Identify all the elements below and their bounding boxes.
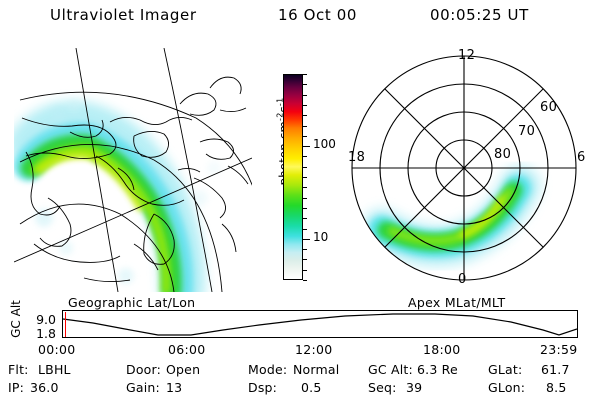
- orbit-trace-line: [63, 314, 577, 335]
- uvi-viewer-window: Ultraviolet Imager 16 Oct 00 00:05:25 UT: [0, 0, 600, 400]
- geographic-strip-title: Geographic Lat/Lon: [68, 295, 195, 310]
- mlt-label-18: 18: [348, 150, 365, 165]
- mlat-label-70: 70: [518, 124, 535, 139]
- colorbar-ticks: [303, 74, 311, 280]
- status-label-door: Door:: [126, 362, 161, 377]
- status-label-gain: Gain:: [126, 380, 160, 395]
- status-label-gc-alt: GC Alt:: [368, 362, 413, 377]
- status-value-door: Open: [166, 362, 200, 377]
- status-row-1: Flt: LBHL Door: Open Mode: Normal GC Alt…: [8, 362, 596, 380]
- mlt-label-0: 0: [458, 272, 467, 287]
- colorbar-gradient: [283, 74, 303, 280]
- aurora-oval-polar: [382, 186, 520, 246]
- gc-alt-min-value: 1.8: [26, 326, 56, 341]
- instrument-title: Ultraviolet Imager: [50, 6, 197, 24]
- status-value-glon: 8.5: [546, 380, 566, 395]
- mlt-label-6: 6: [577, 150, 586, 165]
- time-tick-1200: 12:00: [295, 342, 333, 357]
- observation-time: 00:05:25 UT: [430, 6, 529, 24]
- mlt-label-12: 12: [458, 48, 475, 63]
- polar-grid: [352, 56, 576, 280]
- gc-alt-axis-label: GC Alt: [9, 289, 23, 349]
- observation-date: 16 Oct 00: [278, 6, 357, 24]
- current-time-marker: [65, 312, 66, 338]
- status-value-gc-alt: 6.3 Re: [417, 362, 458, 377]
- status-label-seq: Seq:: [368, 380, 397, 395]
- time-tick-2359: 23:59: [540, 342, 578, 357]
- apex-strip-title: Apex MLat/MLT: [408, 295, 505, 310]
- mlat-label-60: 60: [540, 100, 557, 115]
- apex-polar-svg: [334, 46, 594, 294]
- status-value-gain: 13: [166, 380, 182, 395]
- status-label-glat: GLat:: [488, 362, 522, 377]
- time-tick-1800: 18:00: [423, 342, 461, 357]
- status-value-glat: 61.7: [541, 362, 570, 377]
- geographic-map-panel[interactable]: [14, 48, 252, 292]
- gc-alt-max-value: 9.0: [26, 312, 56, 327]
- status-label-ip: IP:: [8, 380, 24, 395]
- status-panel: Flt: LBHL Door: Open Mode: Normal GC Alt…: [8, 362, 596, 398]
- status-label-dsp: Dsp:: [248, 380, 277, 395]
- mlat-label-80: 80: [494, 147, 511, 162]
- status-row-2: IP: 36.0 Gain: 13 Dsp: 0.5 Seq: 39 GLon:…: [8, 380, 596, 398]
- status-value-dsp: 0.5: [301, 380, 321, 395]
- status-label-flt: Flt:: [8, 362, 29, 377]
- status-label-mode: Mode:: [248, 362, 287, 377]
- orbit-altitude-plot[interactable]: [62, 310, 578, 338]
- geographic-map-svg: [14, 48, 252, 292]
- colorbar-tick-label-10: 10: [313, 230, 328, 244]
- colorbar-tick-label-100: 100: [313, 137, 336, 151]
- status-value-ip: 36.0: [30, 380, 59, 395]
- status-value-seq: 39: [406, 380, 422, 395]
- colorbar: photon cm-2s-1 100 10: [258, 60, 328, 300]
- header-bar: Ultraviolet Imager 16 Oct 00 00:05:25 UT: [0, 6, 600, 28]
- status-value-flt: LBHL: [38, 362, 71, 377]
- status-label-glon: GLon:: [488, 380, 525, 395]
- time-tick-0600: 06:00: [168, 342, 206, 357]
- orbit-trace-svg: [63, 311, 577, 337]
- status-value-mode: Normal: [293, 362, 339, 377]
- time-tick-0000: 00:00: [38, 342, 76, 357]
- apex-polar-panel[interactable]: 12 18 6 0 60 70 80: [334, 46, 594, 294]
